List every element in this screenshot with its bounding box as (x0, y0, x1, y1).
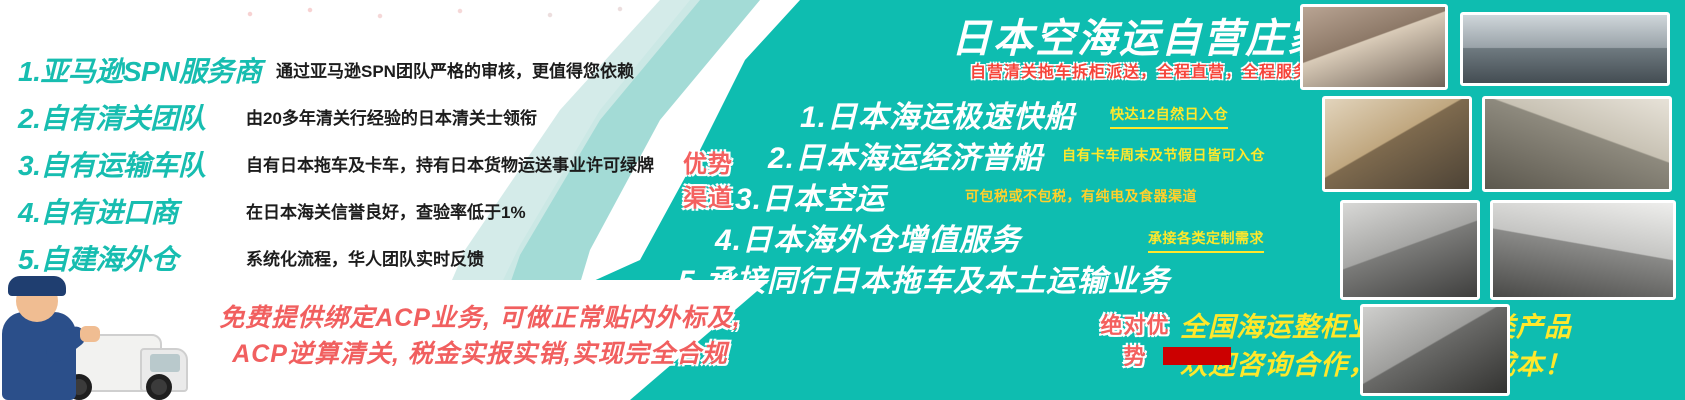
photo-thumbnail (1322, 96, 1472, 192)
photo-thumbnail (1482, 96, 1672, 192)
feature-title: 2.自有清关团队 (18, 97, 205, 137)
photo-thumbnail (1300, 4, 1448, 90)
dot-decoration (230, 0, 650, 30)
list-item: 1.亚马逊SPN服务商 通过亚马逊SPN团队严格的审核，更值得您依赖 (18, 50, 678, 97)
feature-title: 4.自有进口商 (18, 191, 178, 231)
service-item-4: 4.日本海外仓增值服务 (715, 215, 1021, 259)
photo-collage (1300, 4, 1682, 396)
service-note-4: 承接各类定制需求 (1148, 228, 1264, 253)
promo-line-2: ACP逆算清关, 税金实报实销,实现完全合规 (180, 336, 780, 372)
left-promo-text: 免费提供绑定ACP业务, 可做正常贴内外标及, ACP逆算清关, 税金实报实销,… (180, 300, 780, 372)
feature-description: 自有日本拖车及卡车，持有日本货物运送事业许可绿牌 (246, 151, 654, 176)
feature-description: 由20多年清关行经验的日本清关士领衔 (246, 104, 537, 129)
service-item-5: 5.承接同行日本拖车及本土运输业务 (678, 256, 1170, 300)
promo-banner: 1.亚马逊SPN服务商 通过亚马逊SPN团队严格的审核，更值得您依赖 2.自有清… (0, 0, 1685, 400)
service-item-3: 3.日本空运 (735, 174, 886, 218)
list-item: 2.自有清关团队 由20多年清关行经验的日本清关士领衔 (18, 97, 678, 144)
feature-title: 1.亚马逊SPN服务商 (18, 50, 261, 90)
photo-thumbnail (1360, 304, 1510, 396)
truck-window-icon (150, 354, 180, 372)
feature-title: 3.自有运输车队 (18, 144, 205, 184)
list-item: 4.自有进口商 在日本海关信誉良好，查验率低于1% (18, 191, 678, 238)
advantage-badge: 优势渠道 (672, 148, 744, 216)
photo-thumbnail (1460, 12, 1670, 86)
service-item-2: 2.日本海运经济普船 (768, 133, 1043, 177)
left-feature-list: 1.亚马逊SPN服务商 通过亚马逊SPN团队严格的审核，更值得您依赖 2.自有清… (18, 50, 678, 285)
list-item: 3.自有运输车队 自有日本拖车及卡车，持有日本货物运送事业许可绿牌 (18, 144, 678, 191)
photo-thumbnail (1490, 200, 1676, 300)
feature-description: 在日本海关信誉良好，查验率低于1% (246, 198, 526, 223)
photo-thumbnail (1340, 200, 1480, 300)
truck-illustration (0, 270, 200, 400)
redaction-mark (1163, 347, 1231, 365)
service-note-3: 可包税或不包税，有纯电及食器渠道 (965, 186, 1197, 209)
worker-hand-icon (80, 326, 100, 342)
feature-description: 系统化流程，华人团队实时反馈 (246, 245, 484, 270)
bottom-advantage-badge: 绝对优势 (1100, 310, 1170, 372)
wheel-icon (146, 374, 172, 400)
worker-cap-icon (8, 276, 66, 296)
service-item-1: 1.日本海运极速快船 (800, 92, 1075, 136)
service-note-1: 快达12自然日入仓 (1110, 104, 1228, 129)
service-note-2: 自有卡车周末及节假日皆可入仓 (1062, 145, 1265, 168)
promo-line-1: 免费提供绑定ACP业务, 可做正常贴内外标及, (180, 300, 780, 336)
feature-description: 通过亚马逊SPN团队严格的审核，更值得您依赖 (276, 57, 634, 82)
